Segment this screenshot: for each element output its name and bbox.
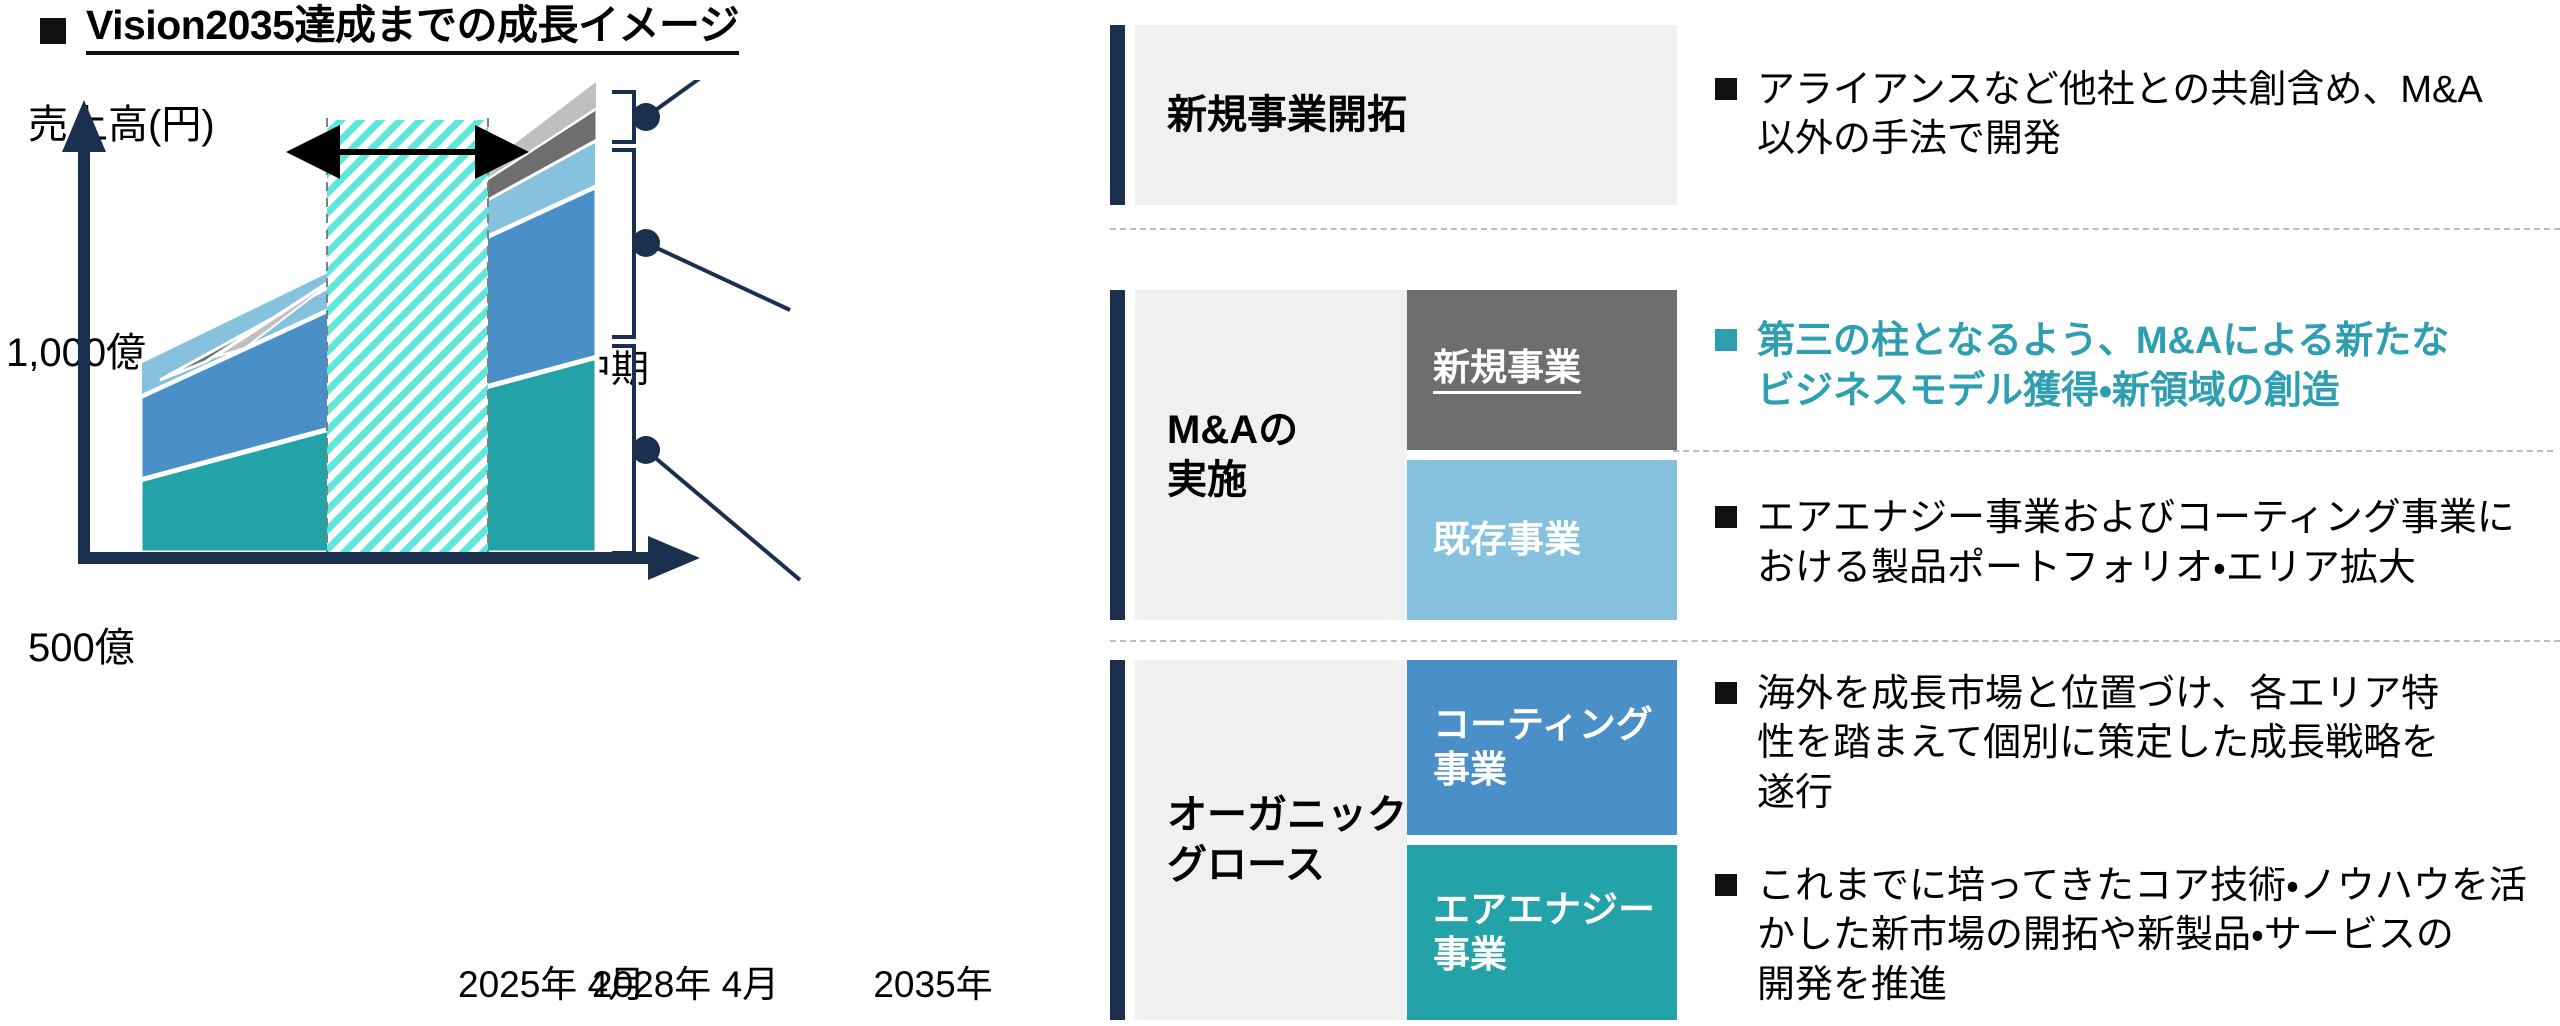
- section-bullet-list: 海外を成長市場と位置づけ、各エリア特 性を踏まえて個別に策定した成長戦略を 遂行…: [1677, 660, 2560, 1020]
- bullet-item: エアエナジー事業およびコーティング事業に おける製品ポートフォリオ・エリア拡大: [1715, 494, 2554, 593]
- tile-gap: [1407, 835, 1677, 845]
- category-tile-existing-business[interactable]: 既存事業: [1407, 460, 1677, 620]
- section-bullet-list: アライアンスなど他社との共創含め、M&A 以外の手法で開発: [1677, 25, 2560, 205]
- callout-dot-new-development: [632, 103, 660, 131]
- section-title-box: M&Aの 実施: [1135, 290, 1407, 620]
- bullet-item-accent: 第三の柱となるよう、M&Aによる新たな ビジネスモデル獲得・新領域の創造: [1715, 317, 2554, 416]
- section-category-tiles: 新規事業 既存事業: [1407, 290, 1677, 620]
- section-title-label: 新規事業開拓: [1167, 90, 1407, 140]
- bullet-text: エアエナジー事業およびコーティング事業に おける製品ポートフォリオ・エリア拡大: [1757, 494, 2515, 593]
- bullet-text: 海外を成長市場と位置づけ、各エリア特 性を踏まえて個別に策定した成長戦略を 遂行: [1757, 670, 2439, 818]
- chart-callout-dots: [632, 103, 660, 464]
- current-midterm-window: [327, 118, 488, 562]
- chart-callout-brackets: [612, 80, 800, 580]
- section-title-label: オーガニック グロース: [1167, 790, 1407, 890]
- category-tile-new-business[interactable]: 新規事業: [1407, 290, 1677, 450]
- chart-canvas: [0, 80, 1120, 1026]
- bracket-new-development: [612, 92, 634, 142]
- bullet-text: アライアンスなど他社との共創含め、M&A 以外の手法で開発: [1757, 66, 2483, 165]
- category-tile-label: エアエナジー 事業: [1433, 888, 1655, 977]
- section-accent-bar: [1110, 25, 1125, 205]
- spacer: [1125, 290, 1135, 620]
- section-title-box: 新規事業開拓: [1135, 25, 1677, 205]
- section-accent-bar: [1110, 660, 1125, 1020]
- section-divider: [1110, 228, 2560, 230]
- x-axis-tick-2035: 2035年: [838, 962, 1028, 1008]
- section-organic-growth[interactable]: オーガニック グロース コーティング 事業 エアエナジー 事業 海外を成長市場と…: [1110, 660, 2560, 1020]
- section-title-box: オーガニック グロース: [1135, 660, 1407, 1020]
- leader-new-development: [646, 80, 778, 117]
- bracket-ma: [612, 150, 634, 337]
- page-title: Vision2035達成までの成長イメージ: [40, 2, 739, 55]
- square-bullet-icon: [1715, 682, 1737, 704]
- bullet-item: 海外を成長市場と位置づけ、各エリア特 性を踏まえて個別に策定した成長戦略を 遂行: [1715, 670, 2554, 818]
- square-bullet-icon: [1715, 506, 1737, 528]
- section-ma-execution[interactable]: M&Aの 実施 新規事業 既存事業 第三の柱となるよう、M&Aによる新たな ビジ…: [1110, 290, 2560, 620]
- section-new-business-development[interactable]: 新規事業開拓 アライアンスなど他社との共創含め、M&A 以外の手法で開発: [1110, 25, 2560, 205]
- tile-row-divider: [1673, 450, 2553, 452]
- bullet-text: 第三の柱となるよう、M&Aによる新たな ビジネスモデル獲得・新領域の創造: [1757, 317, 2449, 416]
- category-tile-label: コーティング 事業: [1433, 703, 1653, 792]
- category-tile-air-energy[interactable]: エアエナジー 事業: [1407, 845, 1677, 1020]
- strategy-panel: 新規事業開拓 アライアンスなど他社との共創含め、M&A 以外の手法で開発 M&A…: [1110, 0, 2560, 1026]
- growth-area-chart: 売上高(円) 1,000億 500億 今中期: [0, 80, 1120, 1026]
- category-tile-label: 新規事業: [1433, 346, 1581, 394]
- section-accent-bar: [1110, 290, 1125, 620]
- leader-ma: [646, 243, 790, 310]
- category-tile-coating[interactable]: コーティング 事業: [1407, 660, 1677, 835]
- bracket-organic: [612, 346, 634, 553]
- bullet-item: これまでに培ってきたコア技術・ノウハウを活 かした新市場の開拓や新製品・サービス…: [1715, 862, 2554, 1010]
- spacer: [1125, 660, 1135, 1020]
- square-bullet-icon: [1715, 329, 1737, 351]
- bullet-item: アライアンスなど他社との共創含め、M&A 以外の手法で開発: [1715, 66, 2554, 165]
- square-bullet-icon: [40, 18, 66, 44]
- section-divider: [1110, 640, 2560, 642]
- spacer: [1125, 25, 1135, 205]
- callout-dot-ma: [632, 229, 660, 257]
- x-axis-tick-2028: 2028年 4月: [592, 962, 762, 1008]
- callout-dot-organic: [632, 436, 660, 464]
- page-title-text: Vision2035達成までの成長イメージ: [86, 2, 739, 55]
- bullet-text: これまでに培ってきたコア技術・ノウハウを活 かした新市場の開拓や新製品・サービス…: [1757, 862, 2527, 1010]
- section-bullet-list: 第三の柱となるよう、M&Aによる新たな ビジネスモデル獲得・新領域の創造 エアエ…: [1677, 290, 2560, 620]
- section-category-tiles: コーティング 事業 エアエナジー 事業: [1407, 660, 1677, 1020]
- tile-gap: [1407, 450, 1677, 460]
- square-bullet-icon: [1715, 78, 1737, 100]
- category-tile-label: 既存事業: [1433, 518, 1581, 562]
- square-bullet-icon: [1715, 874, 1737, 896]
- section-title-label: M&Aの 実施: [1167, 405, 1298, 505]
